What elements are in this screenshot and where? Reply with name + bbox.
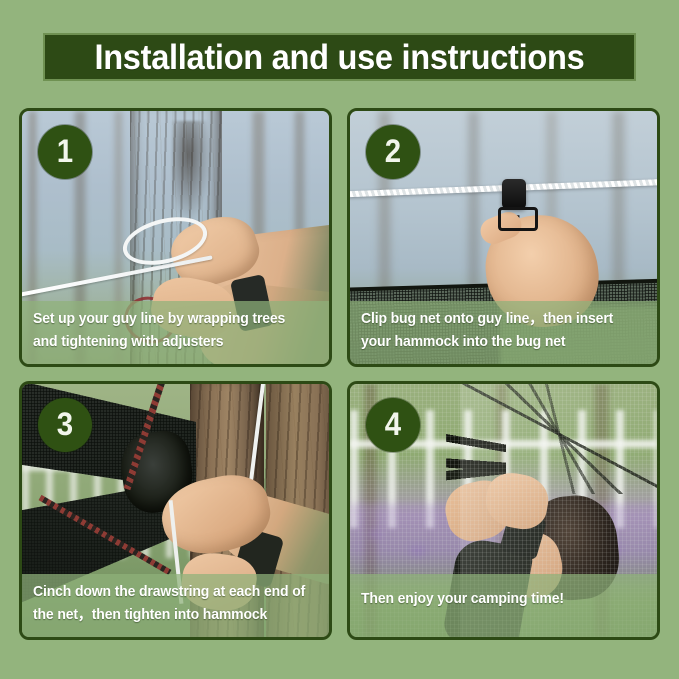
step-number-3: 3 [57, 408, 73, 440]
step-number-4: 4 [385, 408, 401, 440]
step-caption-4: Then enjoy your camping time! [350, 574, 657, 637]
step-panel-3: 3 Cinch down the drawstring at each end … [19, 381, 332, 640]
page-title: Installation and use instructions [95, 40, 585, 75]
steps-grid: 1 Set up your guy line by wrapping trees… [19, 108, 660, 646]
step-number-2: 2 [385, 135, 401, 167]
step-caption-3: Cinch down the drawstring at each end of… [22, 574, 329, 637]
step-number-1: 1 [57, 135, 73, 167]
instruction-infographic: Installation and use instructions [0, 0, 679, 679]
step-caption-1: Set up your guy line by wrapping trees a… [22, 301, 329, 364]
step-caption-text-1: Set up your guy line by wrapping trees a… [33, 308, 309, 355]
step-panel-2: 2 Clip bug net onto guy line，then insert… [347, 108, 660, 367]
step-panel-1: 1 Set up your guy line by wrapping trees… [19, 108, 332, 367]
page-title-banner: Installation and use instructions [43, 33, 636, 81]
step-caption-text-3: Cinch down the drawstring at each end of… [33, 581, 309, 628]
step-caption-2: Clip bug net onto guy line，then insert y… [350, 301, 657, 364]
bark-shadow [172, 121, 214, 231]
step-badge-2: 2 [366, 125, 420, 179]
step-badge-3: 3 [38, 398, 92, 452]
step-caption-text-4: Then enjoy your camping time! [361, 588, 637, 611]
black-clip [502, 179, 526, 209]
clip-ring [498, 207, 538, 231]
step-badge-1: 1 [38, 125, 92, 179]
step-badge-4: 4 [366, 398, 420, 452]
step-panel-4: 4 Then enjoy your camping time! [347, 381, 660, 640]
step-caption-text-2: Clip bug net onto guy line，then insert y… [361, 308, 637, 355]
